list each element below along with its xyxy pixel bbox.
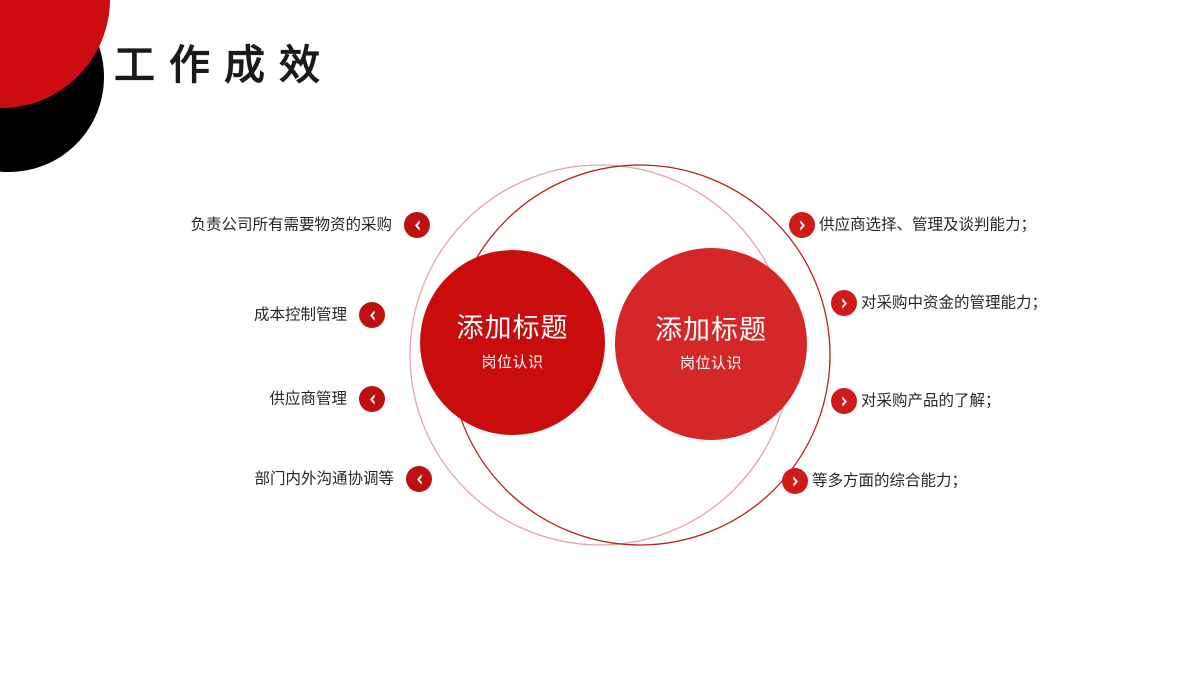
left-label-2: 成本控制管理 [254,307,347,323]
chevron-left-icon-3[interactable] [359,386,385,412]
chevron-right-icon-3[interactable] [831,388,857,414]
bubble-left[interactable]: 添加标题 岗位认识 [420,250,605,435]
right-label-1: 供应商选择、管理及谈判能力； [819,217,1036,233]
slide-canvas: 工作成效 添加标题 岗位认识 添加标题 岗位认识 负责公司所有需要物资的采购 成… [0,0,1200,680]
bubble-right-title: 添加标题 [655,315,767,345]
chevron-left-icon-4[interactable] [406,466,432,492]
left-label-1: 负责公司所有需要物资的采购 [190,217,392,233]
chevron-left-icon-1[interactable] [404,212,430,238]
chevron-right-icon-4[interactable] [782,468,808,494]
chevron-left-icon-2[interactable] [359,302,385,328]
left-label-4: 部门内外沟通协调等 [254,471,394,487]
chevron-right-icon-2[interactable] [831,290,857,316]
right-label-2: 对采购中资金的管理能力； [861,295,1047,311]
left-label-3: 供应商管理 [269,391,347,407]
bubble-left-subtitle: 岗位认识 [481,351,543,372]
right-label-3: 对采购产品的了解； [861,393,1001,409]
bubble-right-subtitle: 岗位认识 [680,352,742,373]
right-label-4: 等多方面的综合能力； [812,473,967,489]
bubble-right[interactable]: 添加标题 岗位认识 [615,248,807,440]
bubble-left-title: 添加标题 [457,313,569,343]
chevron-right-icon-1[interactable] [789,212,815,238]
